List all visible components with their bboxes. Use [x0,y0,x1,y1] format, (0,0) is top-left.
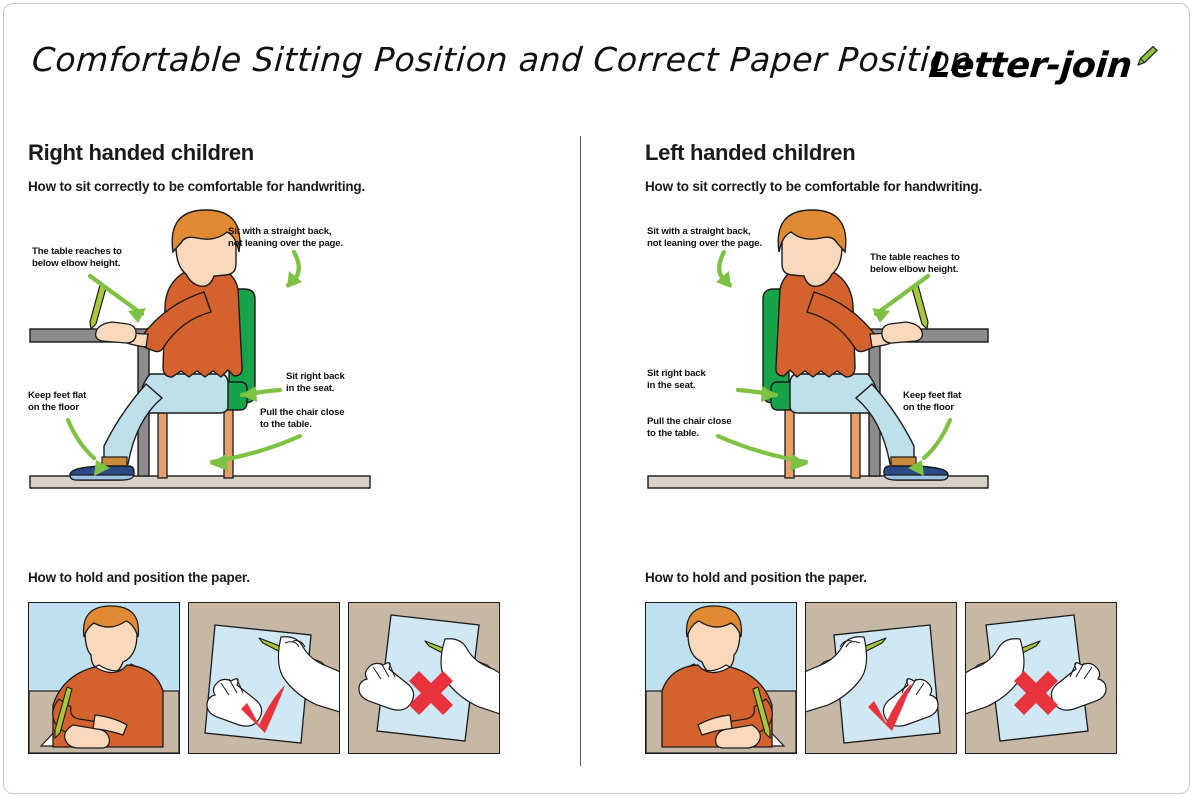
panel-writing-posture [28,602,180,754]
posture-illustration-left: Sit with a straight back, not leaning ov… [645,204,1193,534]
section-subheading: How to sit correctly to be comfortable f… [28,179,588,194]
panel-writing-posture [645,602,797,754]
panel-correct-paper [188,602,340,754]
section-heading: Right handed children [28,140,588,166]
callout-feet-flat: Keep feet flat on the floor [28,390,86,414]
logo-text: Letter-join [927,46,1133,86]
callout-sit-right-back: Sit right back in the seat. [647,368,706,392]
paper-section-heading: How to hold and position the paper. [645,570,867,585]
section-subheading: How to sit correctly to be comfortable f… [645,179,1193,194]
paper-panels-left [645,602,1117,754]
pencil-icon [1133,44,1159,75]
brand-logo: Letter-join [929,44,1159,87]
callout-feet-flat: Keep feet flat on the floor [903,390,961,414]
section-left-handed: Left handed children How to sit correctl… [645,140,1193,780]
callout-sit-right-back: Sit right back in the seat. [286,371,345,395]
panel-correct-paper [805,602,957,754]
paper-panels-right [28,602,500,754]
page-header: Comfortable Sitting Position and Correct… [0,40,1193,110]
callout-straight-back: Sit with a straight back, not leaning ov… [647,226,762,250]
section-right-handed: Right handed children How to sit correct… [28,140,588,780]
paper-section-heading: How to hold and position the paper. [28,570,250,585]
callout-table-height: The table reaches to below elbow height. [32,246,122,270]
posture-illustration-right: The table reaches to below elbow height.… [28,204,588,534]
callout-straight-back: Sit with a straight back, not leaning ov… [228,226,343,250]
callout-pull-chair-close: Pull the chair close to the table. [647,416,731,440]
callout-table-height: The table reaches to below elbow height. [870,252,960,276]
panel-incorrect-paper [965,602,1117,754]
callout-pull-chair-close: Pull the chair close to the table. [260,407,344,431]
section-heading: Left handed children [645,140,1193,166]
panel-incorrect-paper [348,602,500,754]
page-title: Comfortable Sitting Position and Correct… [31,40,974,79]
